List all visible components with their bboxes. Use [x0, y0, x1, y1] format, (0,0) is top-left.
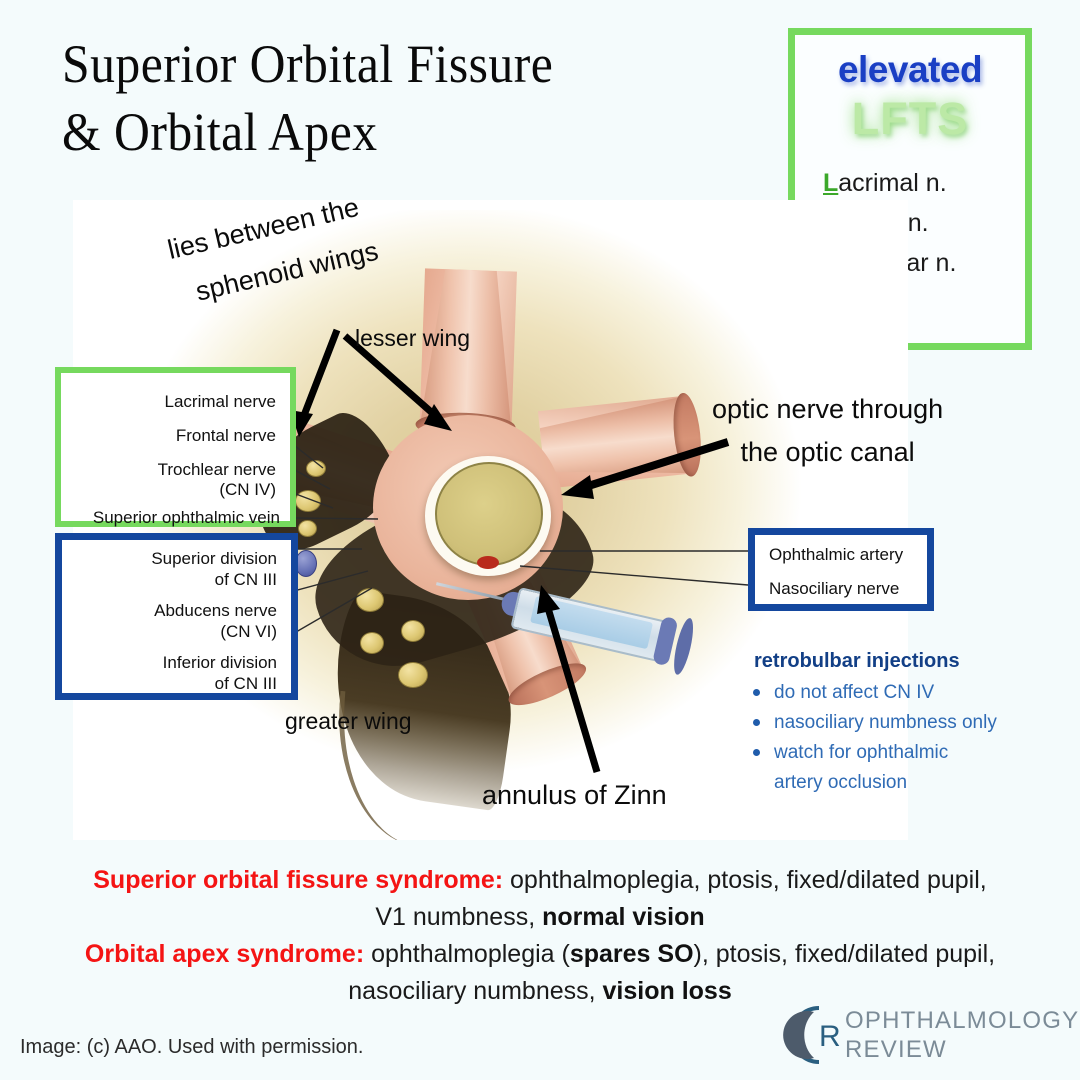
- image-credit: Image: (c) AAO. Used with permission.: [20, 1036, 363, 1059]
- retrobulbar-bullet-1-text: do not affect CN IV: [774, 682, 934, 703]
- syndrome-summary: Superior orbital fissure syndrome: ophth…: [0, 862, 1080, 1010]
- page-title: Superior Orbital Fissure & Orbital Apex: [62, 30, 762, 166]
- label-nasociliary-nerve: Nasociliary nerve: [769, 578, 899, 600]
- retrobulbar-bullet-2: nasociliary numbness only: [748, 708, 1048, 738]
- nerve-trochlear: [298, 520, 317, 537]
- label-abducens-nerve-cn: (CN VI): [220, 621, 277, 643]
- label-box-green: Lacrimal nerve Frontal nerve Trochlear n…: [55, 367, 296, 527]
- nerve-inferior-division-cn3: [398, 662, 428, 688]
- logo-wordmark: OPHTHALMOLOGY REVIEW: [845, 1006, 1079, 1064]
- annotation-lesser-wing: lesser wing: [355, 325, 470, 352]
- label-abducens-nerve: Abducens nerve: [154, 600, 277, 622]
- mnemonic-item-lacrimal: Lacrimal n.: [823, 163, 1025, 203]
- superior-ophthalmic-vein-dot: [295, 550, 317, 577]
- retrobulbar-bullet-list: do not affect CN IV nasociliary numbness…: [748, 678, 1048, 798]
- retrobulbar-bullet-2-text: nasociliary numbness only: [774, 712, 997, 733]
- nerve-nasociliary: [401, 620, 425, 642]
- oa-syndrome-text-post: ), ptosis, fixed/dilated pupil,: [694, 940, 996, 968]
- label-box-right: Ophthalmic artery Nasociliary nerve: [748, 528, 934, 611]
- retrobulbar-bullet-3-continued: artery occlusion: [748, 768, 1048, 798]
- label-ophthalmic-artery: Ophthalmic artery: [769, 544, 903, 566]
- annotation-optic-line-1: optic nerve through: [712, 388, 943, 431]
- retrobulbar-bullet-1: do not affect CN IV: [748, 678, 1048, 708]
- oa-syndrome-line-1: Orbital apex syndrome: ophthalmoplegia (…: [0, 936, 1080, 973]
- retrobulbar-bullet-3-text: watch for ophthalmic: [774, 742, 948, 763]
- logo-eye-blob-icon: [783, 1011, 814, 1059]
- optic-nerve-cross-section: [435, 462, 543, 566]
- muscle-cone-arm-lateral: [538, 396, 695, 489]
- logo-text-line-2: REVIEW: [845, 1035, 1079, 1064]
- label-superior-division: Superior division: [151, 548, 277, 570]
- title-line-1: Superior Orbital Fissure: [62, 30, 706, 98]
- sof-syndrome-label: Superior orbital fissure syndrome:: [93, 866, 503, 894]
- nerve-abducens: [360, 632, 384, 654]
- label-trochlear-nerve-cn: (CN IV): [219, 479, 276, 501]
- infographic-page: Superior Orbital Fissure & Orbital Apex …: [0, 0, 1080, 1080]
- annotation-optic-nerve: optic nerve through the optic canal: [712, 388, 943, 474]
- nerve-lacrimal: [306, 460, 326, 477]
- retrobulbar-title: retrobulbar injections: [754, 650, 1048, 673]
- label-superior-ophthalmic-vein: Superior ophthalmic vein: [93, 507, 280, 529]
- label-box-blue: Superior division of CN III Abducens ner…: [55, 533, 298, 700]
- oa-syndrome-text-pre: ophthalmoplegia (: [364, 940, 570, 968]
- mnemonic-key-l: L: [823, 169, 838, 197]
- annotation-greater-wing: greater wing: [285, 708, 412, 735]
- annotation-annulus-of-zinn: annulus of Zinn: [482, 780, 667, 811]
- retrobulbar-note: retrobulbar injections do not affect CN …: [748, 650, 1048, 798]
- nerve-superior-division-cn3: [356, 588, 384, 612]
- mnemonic-lfts-label: LFTS: [795, 93, 1025, 145]
- arm-shaft: [538, 396, 695, 489]
- label-inferior-division: Inferior division: [163, 652, 277, 674]
- title-line-2: & Orbital Apex: [62, 98, 706, 166]
- label-frontal-nerve: Frontal nerve: [176, 425, 276, 447]
- mnemonic-elevated-label: elevated: [795, 49, 1025, 91]
- bullet-dot-icon: [753, 719, 760, 726]
- oa-syndrome-line2-bold: vision loss: [603, 977, 732, 1005]
- sof-syndrome-line-1: Superior orbital fissure syndrome: ophth…: [0, 862, 1080, 899]
- nerve-frontal: [295, 490, 321, 512]
- label-trochlear-nerve: Trochlear nerve: [158, 459, 276, 481]
- oa-syndrome-line2-pre: nasociliary numbness,: [348, 977, 602, 1005]
- label-superior-division-cn: of CN III: [215, 569, 277, 591]
- bullet-dot-icon: [753, 689, 760, 696]
- sof-syndrome-text: ophthalmoplegia, ptosis, fixed/dilated p…: [503, 866, 987, 894]
- label-inferior-division-cn: of CN III: [215, 673, 277, 695]
- logo-letter-r: R: [819, 1020, 841, 1053]
- bullet-dot-icon: [753, 749, 760, 756]
- logo-text-line-1: OPHTHALMOLOGY: [845, 1006, 1079, 1035]
- sof-syndrome-line-2: V1 numbness, normal vision: [0, 899, 1080, 936]
- sof-syndrome-line2-pre: V1 numbness,: [375, 903, 542, 931]
- oa-syndrome-label: Orbital apex syndrome:: [85, 940, 364, 968]
- retrobulbar-bullet-3: watch for ophthalmic: [748, 738, 1048, 768]
- sof-syndrome-line2-bold: normal vision: [542, 903, 705, 931]
- oa-syndrome-text-bold: spares SO: [570, 940, 694, 968]
- annotation-optic-line-2: the optic canal: [712, 431, 943, 474]
- label-lacrimal-nerve: Lacrimal nerve: [165, 391, 277, 413]
- mnemonic-text-lacrimal: acrimal n.: [838, 169, 946, 197]
